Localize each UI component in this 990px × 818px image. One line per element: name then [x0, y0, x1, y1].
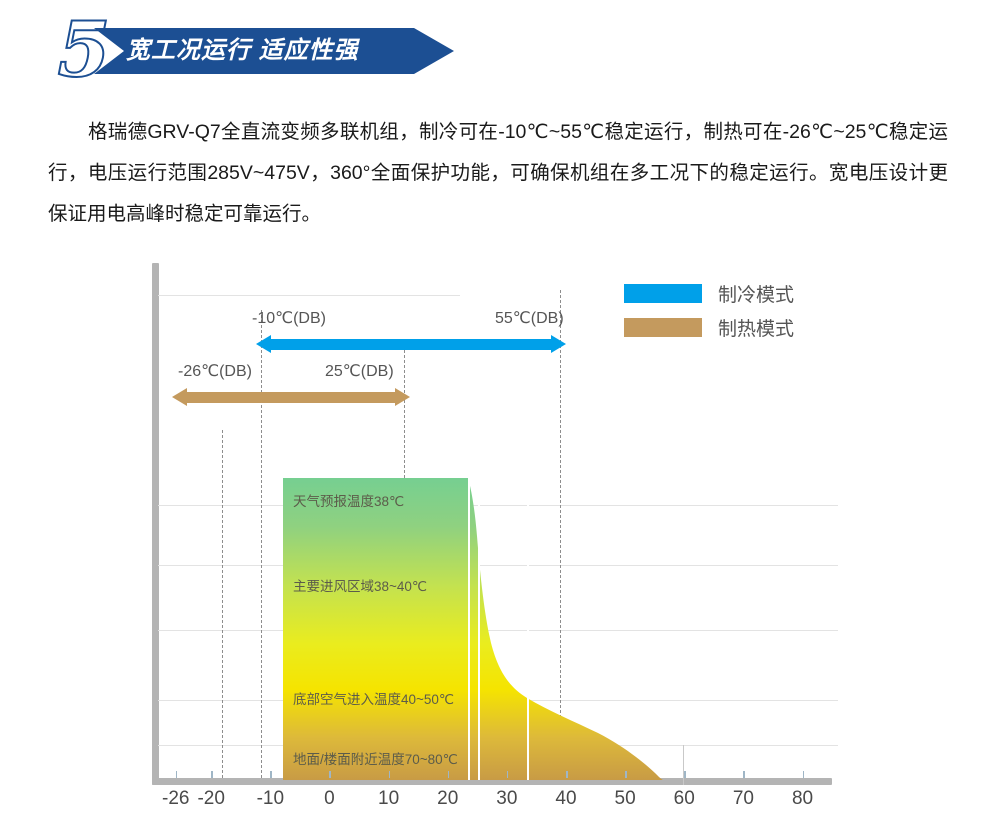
arrow-shaft [269, 339, 553, 350]
x-tick-20 [448, 771, 450, 778]
temperature-profile-area [283, 478, 683, 780]
section-header: 5 宽工况运行 适应性强 [0, 0, 990, 100]
zone-label-intake: 主要进风区域38~40℃ [293, 575, 427, 595]
heating-min-label: -26℃(DB) [178, 361, 252, 381]
x-tick-label-70: 70 [733, 788, 754, 810]
x-tick--26 [176, 771, 178, 778]
legend-swatch-heating [624, 318, 702, 337]
x-tick-label-50: 50 [615, 788, 636, 810]
legend-label-heating: 制热模式 [718, 314, 794, 341]
legend-swatch-cooling [624, 284, 702, 303]
arrow-head-right-icon [395, 388, 410, 406]
cooling-min-label: -10℃(DB) [252, 308, 326, 328]
x-tick-30 [507, 771, 509, 778]
arrow-head-right-icon [551, 335, 566, 353]
x-tick-label-80: 80 [792, 788, 813, 810]
x-tick-40 [566, 771, 568, 778]
body-paragraph: 格瑞德GRV-Q7全直流变频多联机组，制冷可在-10℃~55℃稳定运行，制热可在… [48, 112, 948, 235]
x-tick-10 [389, 771, 391, 778]
legend-item-cooling: 制冷模式 [624, 276, 794, 310]
x-tick--10 [270, 771, 272, 778]
section-number: 5 [48, 14, 120, 86]
x-tick-70 [743, 771, 745, 778]
x-tick-label-10: 10 [378, 788, 399, 810]
x-tick-label--26: -26 [162, 788, 189, 810]
x-tick-label-0: 0 [324, 788, 335, 810]
zone-label-forecast: 天气预报温度38℃ [293, 490, 404, 510]
x-tick-label-30: 30 [496, 788, 517, 810]
x-tick-80 [803, 771, 805, 778]
gridline [683, 745, 684, 785]
legend-item-heating: 制热模式 [624, 310, 794, 344]
heating-range-arrow [172, 388, 410, 407]
legend-label-cooling: 制冷模式 [718, 280, 794, 307]
x-tick-label-40: 40 [555, 788, 576, 810]
gridline [158, 295, 460, 296]
heating-max-label: 25℃(DB) [325, 361, 394, 381]
cooling-range-arrow [256, 335, 566, 354]
white-marker-38 [468, 478, 470, 780]
white-marker-50 [527, 478, 529, 780]
white-marker-40 [478, 478, 480, 780]
dashed-vertical--20 [222, 430, 223, 778]
x-tick-label-20: 20 [437, 788, 458, 810]
dashed-vertical--10 [261, 310, 262, 778]
x-tick--20 [211, 771, 213, 778]
zone-label-bottom: 底部空气进入温度40~50℃ [293, 688, 454, 708]
header-title: 宽工况运行 适应性强 [126, 28, 359, 74]
x-tick-50 [625, 771, 627, 778]
arrow-shaft [185, 392, 397, 403]
zone-label-ground: 地面/楼面附近温度70~80℃ [293, 748, 458, 768]
x-tick-label-60: 60 [674, 788, 695, 810]
chart-legend: 制冷模式 制热模式 [624, 276, 794, 344]
profile-shape [283, 478, 683, 780]
operating-range-chart: 天气预报温度38℃ 主要进风区域38~40℃ 底部空气进入温度40~50℃ 地面… [0, 250, 990, 818]
x-tick-0 [329, 771, 331, 778]
x-tick-label--10: -10 [257, 788, 284, 810]
x-tick-label--20: -20 [197, 788, 224, 810]
y-axis [152, 263, 159, 785]
cooling-max-label: 55℃(DB) [495, 308, 564, 328]
x-tick-60 [684, 771, 686, 778]
